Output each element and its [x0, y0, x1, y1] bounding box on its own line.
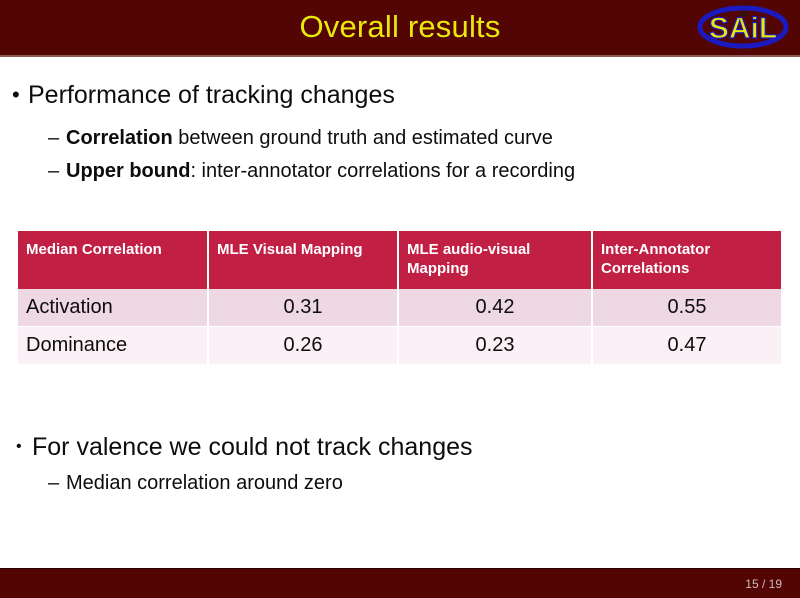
- cell-activation-mle-visual: 0.31: [208, 289, 398, 327]
- column-header-mle-visual-mapping: MLE Visual Mapping: [208, 231, 398, 289]
- sub-bullet-upper-bound-lead: Upper bound: [66, 160, 190, 182]
- bullet-performance: • Performance of tracking changes: [12, 80, 395, 110]
- bullet-marker-dot: •: [16, 432, 32, 462]
- bullet-performance-text: Performance of tracking changes: [28, 80, 395, 110]
- sub-bullet-upper-bound: – Upper bound: inter-annotator correlati…: [48, 158, 575, 184]
- bullet-marker-dash: –: [48, 470, 66, 496]
- sub-bullet-correlation-rest: between ground truth and estimated curve: [173, 127, 553, 149]
- sub-bullet-median-correlation: – Median correlation around zero: [48, 470, 343, 496]
- slide-footer-bar: 15 / 19: [0, 568, 800, 598]
- table-row: Dominance 0.26 0.23 0.47: [18, 327, 781, 365]
- sail-logo-text: SAiL: [709, 12, 777, 45]
- column-header-median-correlation: Median Correlation: [18, 231, 208, 289]
- cell-activation-mle-audio-visual: 0.42: [398, 289, 592, 327]
- sub-bullet-correlation-lead: Correlation: [66, 127, 173, 149]
- table-row: Activation 0.31 0.42 0.55: [18, 289, 781, 327]
- bullet-marker-dot: •: [12, 80, 28, 110]
- column-header-inter-annotator-correlations: Inter-Annotator Correlations: [592, 231, 781, 289]
- cell-dominance-inter-annotator: 0.47: [592, 327, 781, 365]
- results-table: Median Correlation MLE Visual Mapping ML…: [18, 231, 781, 365]
- bullet-marker-dash: –: [48, 158, 66, 184]
- sub-bullet-correlation: – Correlation between ground truth and e…: [48, 125, 553, 151]
- page-number: 15 / 19: [745, 576, 782, 592]
- column-header-mle-audio-visual-mapping: MLE audio-visual Mapping: [398, 231, 592, 289]
- sub-bullet-median-correlation-text: Median correlation around zero: [66, 470, 343, 496]
- bullet-marker-dash: –: [48, 125, 66, 151]
- slide: Overall results SAiL • Performance of tr…: [0, 0, 800, 598]
- cell-dominance-mle-audio-visual: 0.23: [398, 327, 592, 365]
- bullet-valence: • For valence we could not track changes: [16, 432, 473, 462]
- row-label-activation: Activation: [18, 289, 208, 327]
- slide-title: Overall results: [0, 6, 800, 48]
- bullet-valence-text: For valence we could not track changes: [32, 432, 473, 462]
- table-header-row: Median Correlation MLE Visual Mapping ML…: [18, 231, 781, 289]
- cell-dominance-mle-visual: 0.26: [208, 327, 398, 365]
- row-label-dominance: Dominance: [18, 327, 208, 365]
- sail-logo: SAiL: [694, 2, 792, 52]
- sub-bullet-upper-bound-rest: : inter-annotator correlations for a rec…: [190, 160, 575, 182]
- cell-activation-inter-annotator: 0.55: [592, 289, 781, 327]
